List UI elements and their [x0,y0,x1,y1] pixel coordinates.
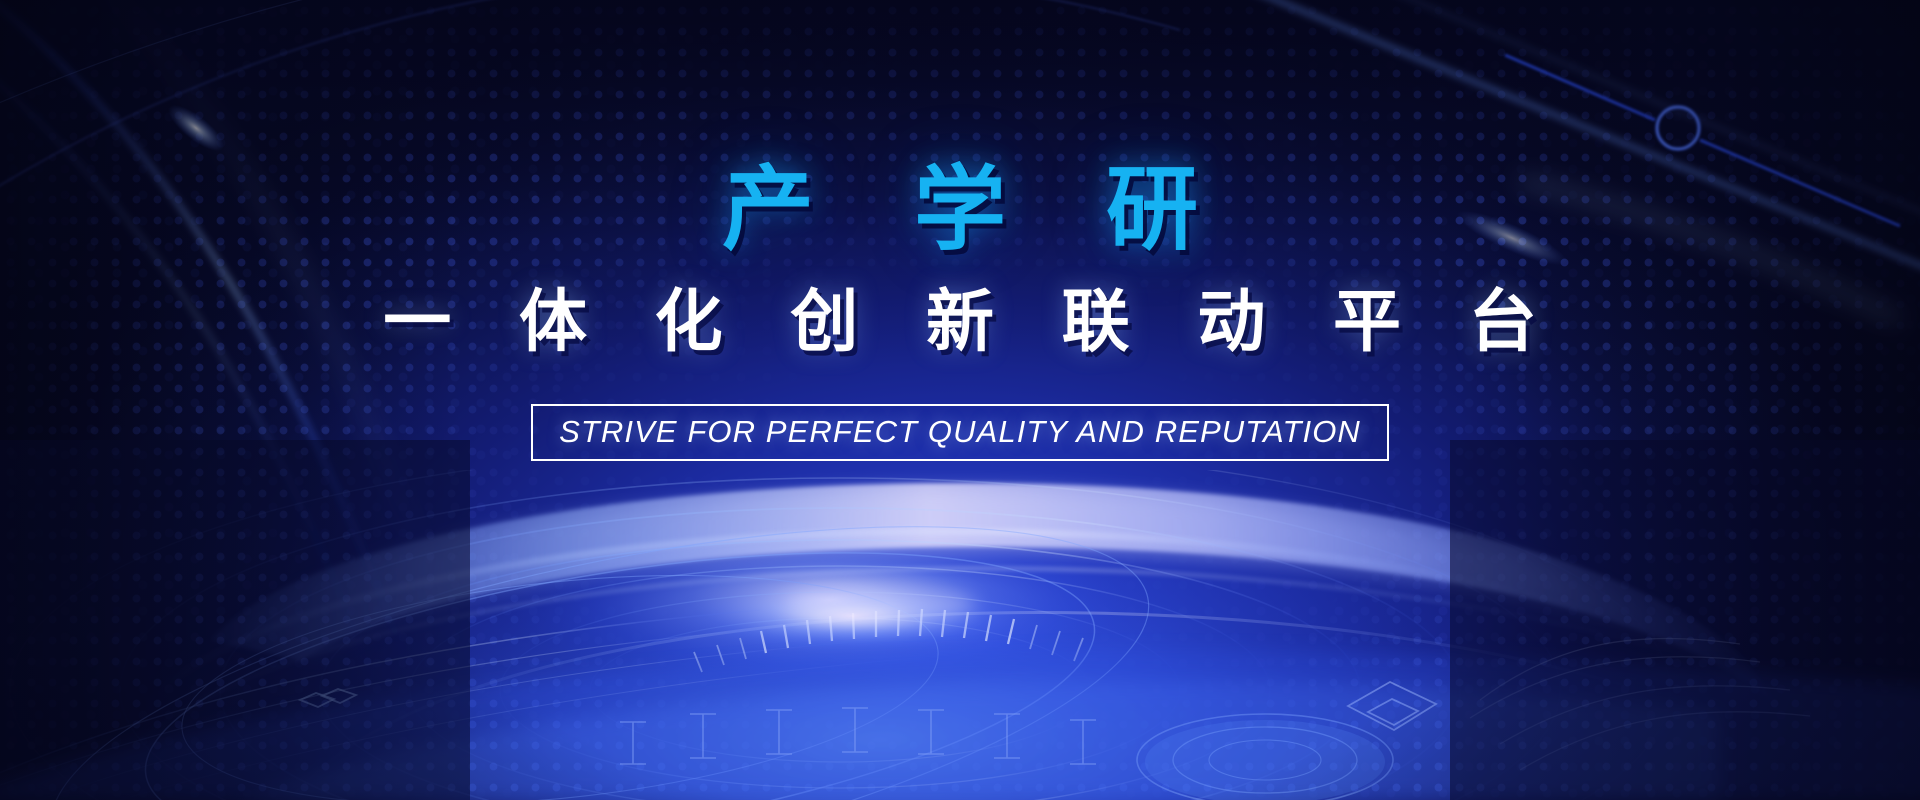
headline-secondary: 一 体 化 创 新 联 动 平 台 [0,259,1920,361]
banner-content: 产 学 研 一 体 化 创 新 联 动 平 台 STRIVE FOR PERFE… [0,0,1920,461]
headline-primary: 产 学 研 [0,0,1920,259]
hero-banner: 产 学 研 一 体 化 创 新 联 动 平 台 STRIVE FOR PERFE… [0,0,1920,800]
tagline-box: STRIVE FOR PERFECT QUALITY AND REPUTATIO… [531,404,1389,461]
english-tagline: STRIVE FOR PERFECT QUALITY AND REPUTATIO… [559,416,1361,447]
